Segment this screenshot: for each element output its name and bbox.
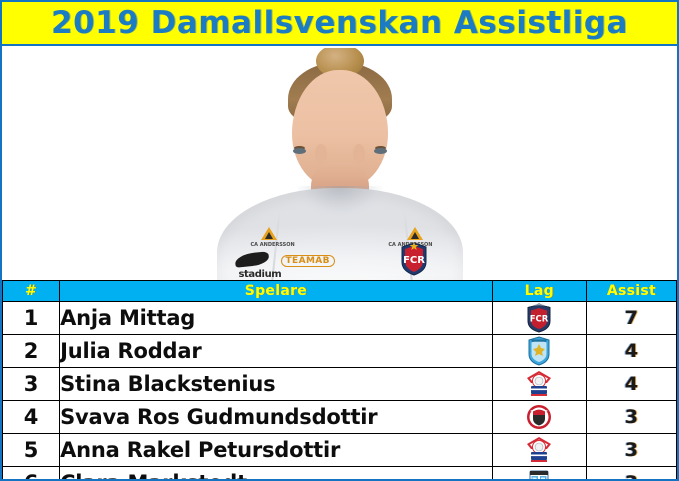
ear-left xyxy=(353,144,365,164)
vaxjo-crest-icon xyxy=(525,468,553,481)
table-body: 1 Anja Mittag FCR 7 2 Julia xyxy=(3,302,677,481)
assist-value: 4 xyxy=(586,368,676,401)
poster-title-bar: 2019 Damallsvenskan Assistliga xyxy=(2,2,677,46)
assist-value: 4 xyxy=(586,335,676,368)
table-row[interactable]: 3 Stina Blackstenius xyxy=(3,368,677,401)
table-header-row: # Spelare Lag Assist xyxy=(3,281,677,302)
player-name: Julia Roddar xyxy=(60,335,493,368)
team-logo-cell xyxy=(492,434,586,467)
puma-logo-icon xyxy=(234,251,269,267)
column-header-rank[interactable]: # xyxy=(3,281,60,302)
rank-value: 4 xyxy=(3,401,60,434)
player-name: Anna Rakel Petursdottir xyxy=(60,434,493,467)
ear-right xyxy=(315,144,327,164)
player-name: Stina Blackstenius xyxy=(60,368,493,401)
rank-value: 5 xyxy=(3,434,60,467)
fcr-crest-icon: FCR xyxy=(525,303,553,333)
sponsor-ca-andersson-left: CA ANDERSSON xyxy=(251,242,295,248)
assist-value: 3 xyxy=(586,434,676,467)
eye-right xyxy=(293,148,306,154)
sponsor-stadium: stadium xyxy=(239,269,282,280)
player-figure: CA ANDERSSON CA ANDERSSON TEAMAB stadium… xyxy=(225,48,455,280)
jersey: CA ANDERSSON CA ANDERSSON TEAMAB stadium… xyxy=(217,188,463,280)
table-row[interactable]: 4 Svava Ros Gudmundsdottir 3 xyxy=(3,401,677,434)
eye-left xyxy=(374,148,387,154)
table-row[interactable]: 2 Julia Roddar 4 xyxy=(3,335,677,368)
kristianstad-crest-icon xyxy=(525,402,553,432)
jersey-fcr-crest-icon: FCR xyxy=(399,242,429,276)
table-row[interactable]: 1 Anja Mittag FCR 7 xyxy=(3,302,677,335)
assist-league-poster: 2019 Damallsvenskan Assistliga CA ANDERS… xyxy=(0,0,679,481)
sponsor-teamab: TEAMAB xyxy=(281,255,335,267)
team-logo-cell xyxy=(492,401,586,434)
player-name: Clara Markstedt xyxy=(60,467,493,481)
team-logo-cell xyxy=(492,335,586,368)
rank-value: 1 xyxy=(3,302,60,335)
team-logo-cell: FCR xyxy=(492,302,586,335)
player-name: Anja Mittag xyxy=(60,302,493,335)
table-row[interactable]: 6 Clara Markstedt xyxy=(3,467,677,481)
assist-standings-table: # Spelare Lag Assist 1 Anja Mittag FCR xyxy=(2,280,677,481)
assist-value: 3 xyxy=(586,467,676,481)
assist-value: 7 xyxy=(586,302,676,335)
column-header-team[interactable]: Lag xyxy=(492,281,586,302)
rank-value: 3 xyxy=(3,368,60,401)
column-header-player[interactable]: Spelare xyxy=(60,281,493,302)
svg-text:FCR: FCR xyxy=(530,315,549,325)
rank-value: 6 xyxy=(3,467,60,481)
sponsor-triangle-left-icon xyxy=(261,227,277,240)
linkoping-crest-icon xyxy=(525,435,553,465)
player-photo: CA ANDERSSON CA ANDERSSON TEAMAB stadium… xyxy=(2,48,677,280)
assist-value: 3 xyxy=(586,401,676,434)
linkoping-crest-icon xyxy=(525,369,553,399)
rank-value: 2 xyxy=(3,335,60,368)
svg-text:FCR: FCR xyxy=(403,255,425,266)
team-logo-cell xyxy=(492,467,586,481)
page-title: 2019 Damallsvenskan Assistliga xyxy=(51,5,628,41)
column-header-assist[interactable]: Assist xyxy=(586,281,676,302)
table-header: # Spelare Lag Assist xyxy=(3,281,677,302)
sponsor-triangle-right-icon xyxy=(407,227,423,240)
eskilstuna-crest-icon xyxy=(525,336,553,366)
table-row[interactable]: 5 Anna Rakel Petursdottir xyxy=(3,434,677,467)
player-name: Svava Ros Gudmundsdottir xyxy=(60,401,493,434)
team-logo-cell xyxy=(492,368,586,401)
